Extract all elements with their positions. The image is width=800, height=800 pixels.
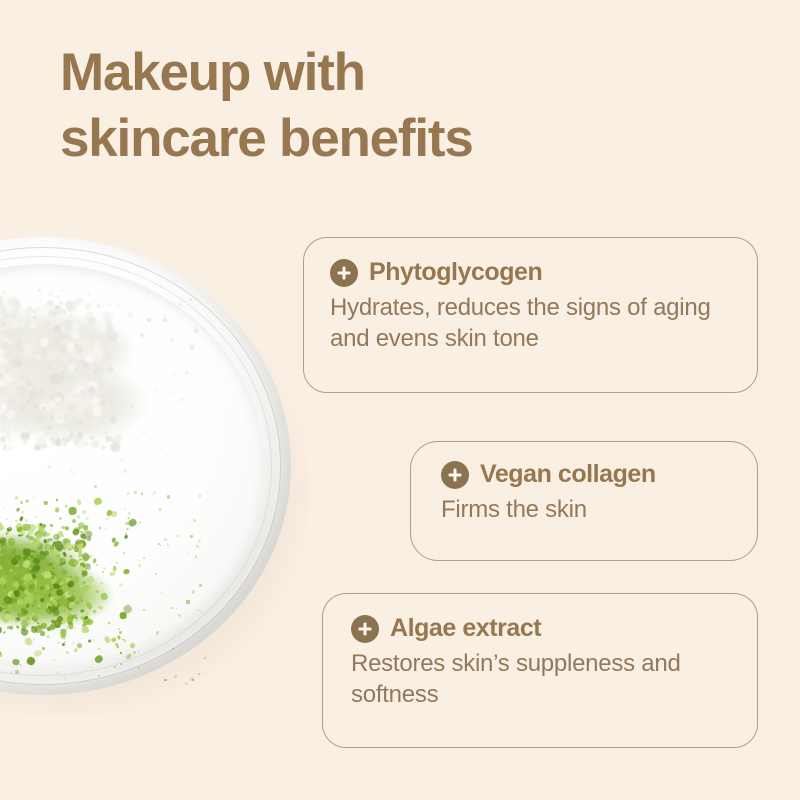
benefit-card-header: Phytoglycogen	[330, 258, 737, 287]
benefit-description: Hydrates, reduces the signs of aging and…	[330, 292, 737, 354]
benefit-description: Restores skin’s suppleness and softness	[351, 648, 737, 710]
benefit-card-content: Algae extract Restores skin’s suppleness…	[351, 614, 737, 710]
dish-well	[0, 264, 264, 668]
benefit-card-header: Algae extract	[351, 614, 737, 643]
benefit-card-algae-extract[interactable]: Algae extract Restores skin’s suppleness…	[322, 593, 758, 748]
page-title: Makeup with skincare benefits	[60, 40, 700, 172]
dish-rim-inner	[0, 256, 272, 676]
promo-canvas: Makeup with skincare benefits Phytoglyco…	[0, 0, 800, 800]
benefit-card-content: Vegan collagen Firms the skin	[441, 460, 737, 525]
benefit-card-phytoglycogen[interactable]: Phytoglycogen Hydrates, reduces the sign…	[303, 237, 758, 393]
benefit-description: Firms the skin	[441, 494, 737, 525]
page-title-line-2: skincare benefits	[60, 106, 700, 172]
benefit-title: Vegan collagen	[480, 460, 656, 489]
page-title-line-1: Makeup with	[60, 43, 365, 102]
benefit-title: Phytoglycogen	[369, 258, 542, 287]
plus-icon	[351, 615, 379, 643]
product-photo	[0, 215, 310, 715]
benefit-title: Algae extract	[390, 614, 541, 643]
benefit-card-header: Vegan collagen	[441, 460, 737, 489]
plus-icon	[330, 259, 358, 287]
plus-icon	[441, 461, 469, 489]
benefit-card-vegan-collagen[interactable]: Vegan collagen Firms the skin	[410, 441, 758, 561]
benefit-card-content: Phytoglycogen Hydrates, reduces the sign…	[330, 258, 737, 354]
